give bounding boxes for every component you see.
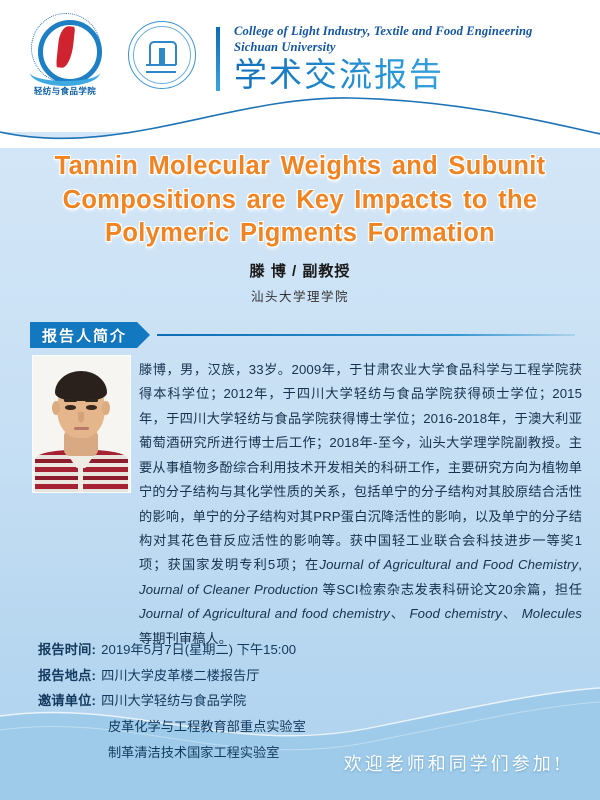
speaker-block: 滕 博 / 副教授 汕头大学理学院	[0, 260, 600, 305]
university-seal-icon	[122, 17, 200, 101]
portrait-eye-right	[86, 405, 97, 410]
section-header-row: 报告人简介	[30, 322, 575, 348]
speaker-name: 滕 博 / 副教授	[0, 260, 600, 281]
college-logo-icon: 轻纺与食品学院	[22, 11, 108, 107]
header-vertical-divider	[216, 27, 220, 91]
detail-value-host-3: 制革清洁技术国家工程实验室	[108, 740, 306, 766]
portrait-ear-right	[102, 401, 110, 415]
college-logo-caption: 轻纺与食品学院	[22, 85, 108, 97]
portrait-eye-left	[65, 405, 76, 410]
portrait-ear-left	[52, 401, 60, 415]
seal-gate-glyph	[149, 41, 177, 65]
portrait-placket	[78, 460, 83, 492]
section-tag-label: 报告人简介	[42, 325, 127, 346]
event-details-block: 报告时间: 2019年5月7日(星期二) 下午15:00 报告地点: 四川大学皮…	[38, 637, 306, 766]
header-logos-row: 轻纺与食品学院 College of Light Industry, Texti…	[0, 0, 600, 118]
detail-label-time: 报告时间:	[38, 637, 96, 663]
header-english-line2: Sichuan University	[234, 40, 600, 55]
header-english-line1: College of Light Industry, Textile and F…	[234, 24, 600, 39]
detail-row-time: 报告时间: 2019年5月7日(星期二) 下午15:00	[38, 637, 306, 663]
detail-row-host: 邀请单位: 四川大学轻纺与食品学院	[38, 688, 306, 714]
speaker-biography: 滕博，男，汉族，33岁。2009年，于甘肃农业大学食品科学与工程学院获得本科学位…	[139, 358, 582, 651]
detail-label-place: 报告地点:	[38, 663, 96, 689]
speaker-portrait-photo	[33, 356, 130, 492]
detail-value-time: 2019年5月7日(星期二) 下午15:00	[101, 637, 296, 663]
detail-value-host: 四川大学轻纺与食品学院	[101, 688, 246, 714]
portrait-brow-right	[85, 399, 98, 402]
section-tag-bio: 报告人简介	[30, 322, 137, 348]
header-title-block: College of Light Industry, Textile and F…	[234, 24, 600, 94]
header-chinese-title: 学术交流报告	[234, 57, 600, 94]
welcome-message: 欢迎老师和同学们参加!	[344, 750, 564, 776]
portrait-brow-left	[64, 399, 77, 402]
section-rule-line	[157, 334, 575, 336]
detail-value-place: 四川大学皮革楼二楼报告厅	[101, 663, 259, 689]
portrait-mouth	[74, 427, 89, 430]
detail-row-place: 报告地点: 四川大学皮革楼二楼报告厅	[38, 663, 306, 689]
detail-value-host-2: 皮革化学与工程教育部重点实验室	[108, 714, 306, 740]
logo-water-swoosh	[30, 59, 100, 86]
detail-label-host: 邀请单位:	[38, 688, 96, 714]
seal-book-glyph	[146, 64, 176, 73]
portrait-nose	[78, 412, 84, 423]
poster-canvas: 轻纺与食品学院 College of Light Industry, Texti…	[0, 0, 600, 800]
poster-title: Tannin Molecular Weights and Subunit Com…	[28, 150, 572, 251]
speaker-affiliation: 汕头大学理学院	[0, 286, 600, 305]
